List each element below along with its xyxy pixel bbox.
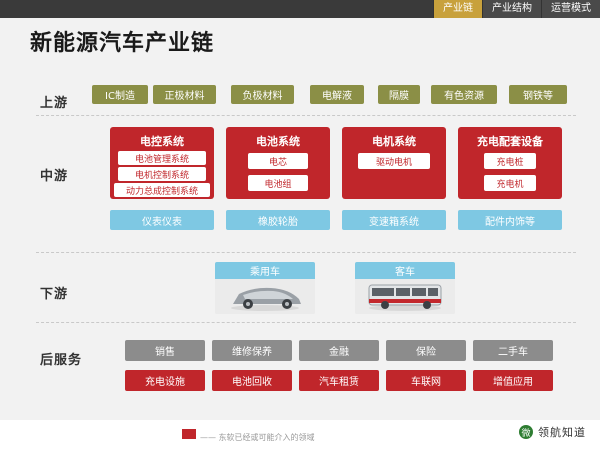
midstream-blue-parts[interactable]: 配件内饰等 bbox=[458, 210, 562, 230]
midstream-panel-battery: 电池系统 电芯 电池组 bbox=[226, 127, 330, 199]
downstream-card-bus[interactable]: 客车 bbox=[355, 262, 455, 314]
row-label-midstream: 中游 bbox=[40, 165, 100, 184]
midstream-subchip-charging-pile[interactable]: 充电桩 bbox=[484, 153, 536, 169]
midstream-blue-tires[interactable]: 橡胶轮胎 bbox=[226, 210, 330, 230]
midstream-panel-charging: 充电配套设备 充电桩 充电机 bbox=[458, 127, 562, 199]
upstream-chip-metals[interactable]: 有色资源 bbox=[431, 85, 497, 104]
top-bar: 产业链 产业结构 运营模式 bbox=[0, 0, 600, 18]
service-red-charging[interactable]: 充电设施 bbox=[125, 370, 205, 391]
midstream-blue-instrument[interactable]: 仪表仪表 bbox=[110, 210, 214, 230]
wechat-badge-icon: 微 bbox=[519, 425, 533, 439]
midstream-blue-gearbox[interactable]: 变速箱系统 bbox=[342, 210, 446, 230]
tab-industry-chain[interactable]: 产业链 bbox=[433, 0, 482, 18]
midstream-subchip-cell[interactable]: 电芯 bbox=[248, 153, 308, 169]
divider-downstream-service bbox=[36, 322, 576, 323]
midstream-subchip-powertrain[interactable]: 动力总成控制系统 bbox=[114, 183, 210, 197]
tab-operation-model[interactable]: 运营模式 bbox=[541, 0, 600, 18]
midstream-panel-battery-title: 电池系统 bbox=[226, 133, 330, 149]
midstream-panel-ecu-title: 电控系统 bbox=[110, 133, 214, 149]
watermark: 微 领航知道 bbox=[519, 424, 586, 440]
midstream-subchip-charger[interactable]: 充电机 bbox=[484, 175, 536, 191]
bus-icon bbox=[355, 279, 455, 314]
upstream-chip-anode[interactable]: 负极材料 bbox=[231, 85, 294, 104]
service-red-value-added[interactable]: 增值应用 bbox=[473, 370, 553, 391]
car-icon-svg bbox=[215, 279, 315, 314]
service-gray-maintenance[interactable]: 维修保养 bbox=[212, 340, 292, 361]
service-red-leasing[interactable]: 汽车租赁 bbox=[299, 370, 379, 391]
service-gray-sales[interactable]: 销售 bbox=[125, 340, 205, 361]
midstream-subchip-motor-control[interactable]: 电机控制系统 bbox=[118, 167, 206, 181]
upstream-chip-separator[interactable]: 隔膜 bbox=[378, 85, 420, 104]
service-red-recycling[interactable]: 电池回收 bbox=[212, 370, 292, 391]
upstream-chip-cathode[interactable]: 正极材料 bbox=[153, 85, 216, 104]
midstream-panel-motor: 电机系统 驱动电机 bbox=[342, 127, 446, 199]
downstream-card-passenger[interactable]: 乘用车 bbox=[215, 262, 315, 314]
service-gray-used-car[interactable]: 二手车 bbox=[473, 340, 553, 361]
page-title: 新能源汽车产业链 bbox=[30, 25, 214, 57]
service-gray-finance[interactable]: 金融 bbox=[299, 340, 379, 361]
tab-industry-structure[interactable]: 产业结构 bbox=[482, 0, 541, 18]
upstream-chip-ic[interactable]: IC制造 bbox=[92, 85, 148, 104]
service-gray-insurance[interactable]: 保险 bbox=[386, 340, 466, 361]
divider-upstream-midstream bbox=[36, 115, 576, 116]
service-red-telematics[interactable]: 车联网 bbox=[386, 370, 466, 391]
diagram-canvas: 上游 中游 下游 后服务 IC制造 正极材料 负极材料 电解液 隔膜 有色资源 … bbox=[0, 60, 600, 420]
midstream-panel-motor-title: 电机系统 bbox=[342, 133, 446, 149]
legend-swatch bbox=[182, 429, 196, 439]
row-label-upstream: 上游 bbox=[40, 92, 100, 111]
midstream-subchip-bms[interactable]: 电池管理系统 bbox=[118, 151, 206, 165]
upstream-chip-electrolyte[interactable]: 电解液 bbox=[310, 85, 364, 104]
top-tabs: 产业链 产业结构 运营模式 bbox=[433, 0, 600, 18]
downstream-card-passenger-label: 乘用车 bbox=[215, 262, 315, 279]
upstream-chip-steel[interactable]: 钢铁等 bbox=[509, 85, 567, 104]
midstream-panel-charging-title: 充电配套设备 bbox=[458, 133, 562, 149]
row-label-service: 后服务 bbox=[40, 349, 100, 368]
divider-midstream-downstream bbox=[36, 252, 576, 253]
midstream-subchip-drive-motor[interactable]: 驱动电机 bbox=[358, 153, 430, 169]
bus-icon-svg bbox=[355, 279, 455, 314]
row-label-downstream: 下游 bbox=[40, 283, 100, 302]
midstream-panel-ecu: 电控系统 电池管理系统 电机控制系统 动力总成控制系统 bbox=[110, 127, 214, 199]
downstream-card-bus-label: 客车 bbox=[355, 262, 455, 279]
midstream-subchip-pack[interactable]: 电池组 bbox=[248, 175, 308, 191]
legend-note: —— 东软已经或可能介入的领域 bbox=[200, 432, 315, 443]
car-icon bbox=[215, 279, 315, 314]
watermark-text: 领航知道 bbox=[538, 424, 586, 440]
